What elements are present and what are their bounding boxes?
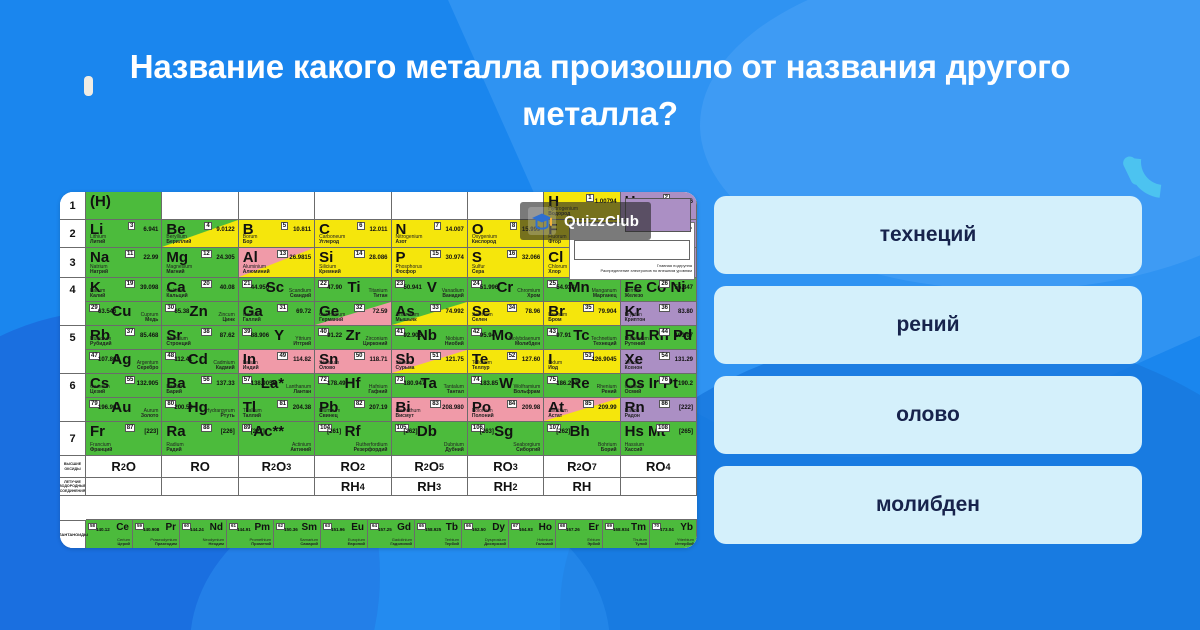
- element-russian-name: Цинк: [218, 318, 234, 324]
- element-names: BismuthumВисмут: [396, 409, 421, 421]
- element-cell-empty: [392, 192, 468, 220]
- element-russian-name: Цирконий: [363, 342, 387, 348]
- period-number-6: 6: [60, 374, 86, 398]
- element-symbol: Y: [274, 328, 284, 343]
- element-names: FranciumФранций: [90, 443, 112, 455]
- element-names: PoloniumПолоний: [472, 409, 494, 421]
- element-cell-Br: Br3579.904BromumБром: [544, 302, 620, 326]
- element-symbol: Ce: [116, 523, 129, 533]
- element-atomic-mass: 24.305: [216, 255, 234, 261]
- element-names: OsmiumОсмий: [625, 385, 644, 397]
- lanthanide-cell-Pr: Pr59140.908PraseodymiumПразеодим: [133, 520, 180, 548]
- element-cell-As: As3374.992ArsenicumМышьяк: [392, 302, 468, 326]
- element-atomic-mass: 132.905: [137, 381, 159, 387]
- element-atomic-mass: 10.811: [293, 227, 311, 233]
- element-cell-Au: Au79196.967AurumЗолото: [86, 398, 162, 422]
- element-atomic-number: 37: [125, 328, 136, 336]
- period-number-: [60, 350, 86, 374]
- element-names: ArgentumСеребро: [137, 361, 159, 373]
- element-names: RheniumРений: [597, 385, 617, 397]
- element-cell-Cd: Cd48112.41CadmiumКадмий: [162, 350, 238, 374]
- element-symbol: Dy: [492, 523, 505, 533]
- element-names: NiobiumНиобий: [445, 337, 464, 349]
- hydride-formula-cell: [162, 478, 238, 496]
- element-atomic-mass: 14.007: [446, 227, 464, 233]
- element-names: ScandiumСкандий: [289, 289, 311, 301]
- element-russian-name: Скандий: [289, 294, 311, 300]
- element-cell-Rf: Rf104[261]RutherfordiumРезерфордий: [315, 422, 391, 456]
- element-atomic-mass: 118.71: [369, 357, 387, 363]
- lanthanide-cell-Eu: Eu63151.96EuropiumЕвропий: [321, 520, 368, 548]
- element-cell-Li: Li36.941LithiumЛитий: [86, 220, 162, 248]
- element-symbol: Pm: [254, 523, 270, 533]
- element-names: GadoliniumГадолиний: [390, 538, 412, 547]
- element-cell-Rb: Rb3785.468RubidiumРубидий: [86, 326, 162, 350]
- element-atomic-mass: 69.72: [296, 309, 311, 315]
- element-symbol: Mg: [166, 250, 188, 265]
- element-cell-Ra: Ra88[226]RadiumРадий: [162, 422, 238, 456]
- element-atomic-mass: [263]: [480, 429, 494, 435]
- element-atomic-number: 19: [125, 280, 136, 288]
- oxide-formula: R2O5: [392, 456, 467, 477]
- element-names: WolframiumВольфрам: [514, 385, 541, 397]
- element-cell-Fr: Fr87[223]FranciumФранций: [86, 422, 162, 456]
- element-cell-Bh: Bh107[262]BohriumБорий: [544, 422, 620, 456]
- element-symbol: Cl: [548, 250, 563, 265]
- element-symbol: Zn: [189, 304, 207, 319]
- element-cell-N: N714.007NitrogeniumАзот: [392, 220, 468, 248]
- lanthanide-cell-Tb: Tb65158.925TerbiumТербий: [415, 520, 462, 548]
- element-cell-Kr: Kr3683.80KryptonКриптон: [621, 302, 697, 326]
- answer-option-label: молибден: [876, 493, 980, 517]
- element-russian-name: Олово: [319, 366, 339, 372]
- element-names: BohriumБорий: [598, 443, 617, 455]
- element-names: CarboneumУглерод: [319, 235, 345, 247]
- element-names: ChromiumХром: [517, 289, 540, 301]
- element-symbol: Gd: [397, 523, 411, 533]
- element-symbol: Zr: [346, 328, 361, 343]
- element-cell-Y: Y3988.906YttriumИттрий: [239, 326, 315, 350]
- element-russian-name: Мышьяк: [396, 318, 420, 324]
- element-atomic-number: 7: [434, 222, 441, 230]
- element-atomic-mass: 180.947: [404, 381, 426, 387]
- hydride-formula: RH3: [392, 478, 467, 495]
- element-atomic-mass: [227]: [251, 429, 265, 435]
- volatile-hydrides-text: ЛЕТУЧИЕ ВОДОРОДНЫЕ СОЕДИНЕНИЯ: [60, 478, 85, 495]
- legend-sample-box: [574, 240, 690, 260]
- element-atomic-number: 26: [659, 280, 670, 288]
- element-names: TelluriumТеллур: [472, 361, 492, 373]
- period-number-4: 4: [60, 278, 86, 302]
- higher-oxides-text: ВЫСШИЕ ОКСИДЫ: [60, 456, 85, 477]
- period-number-7: 7: [60, 422, 86, 456]
- element-names: BerylliumБериллий: [166, 235, 191, 247]
- element-cell-Te: Te52127.60TelluriumТеллур: [468, 350, 544, 374]
- element-russian-name: Актиний: [290, 448, 311, 454]
- element-atomic-number: 88: [201, 424, 212, 432]
- element-russian-name: Германий: [319, 318, 345, 324]
- element-atomic-number: 34: [507, 304, 518, 312]
- element-names: ActiniumАктиний: [290, 443, 311, 455]
- element-atomic-mass: 85.468: [140, 333, 158, 339]
- element-russian-name: Европий: [348, 542, 365, 547]
- element-cell-Ga: Ga3169.72GalliumГаллий: [239, 302, 315, 326]
- cursor-indicator: [84, 76, 93, 96]
- element-atomic-number: 51: [430, 352, 441, 360]
- element-symbol: V: [427, 280, 437, 295]
- answer-option-label: рений: [896, 313, 959, 337]
- hydride-formula: [239, 478, 314, 495]
- element-russian-name: Азот: [396, 240, 423, 246]
- element-symbol: Er: [588, 523, 599, 533]
- hydride-formula-cell: [621, 478, 697, 496]
- element-atomic-number: 4: [204, 222, 211, 230]
- element-russian-name: Хлор: [548, 270, 567, 276]
- oxide-formula: RO3: [468, 456, 543, 477]
- element-symbol: Pr: [165, 523, 176, 533]
- hydride-formula-cell: RH: [544, 478, 620, 496]
- element-names: NitrogeniumАзот: [396, 235, 423, 247]
- hydride-formula: RH2: [468, 478, 543, 495]
- element-atomic-mass: 12.011: [369, 227, 387, 233]
- element-atomic-number: 32: [354, 304, 365, 312]
- answer-option-1[interactable]: технеций: [714, 196, 1142, 274]
- oxide-formula: RO: [162, 456, 237, 477]
- element-names: AurumЗолото: [141, 409, 159, 421]
- element-atomic-mass: 26.9815: [289, 255, 311, 261]
- element-names: ZincumЦинк: [218, 313, 234, 325]
- element-symbol: Fr: [90, 424, 105, 439]
- graduation-cap-icon: [528, 207, 556, 235]
- hydride-formula: [86, 478, 161, 495]
- element-atomic-mass: 65.38: [174, 309, 189, 315]
- element-cell-Zr: Zr4091.22ZirconiumЦирконий: [315, 326, 391, 350]
- element-names: DysprosiumДиспрозий: [484, 538, 506, 547]
- element-cell-Sc: Sc2144.956ScandiumСкандий: [239, 278, 315, 302]
- oxide-formula-cell: R2O7: [544, 456, 620, 478]
- element-russian-name: Осмий: [625, 390, 644, 396]
- element-atomic-mass: 137.33: [216, 381, 234, 387]
- oxide-formula: RO4: [621, 456, 696, 477]
- answer-option-2[interactable]: рений: [714, 286, 1142, 364]
- element-russian-name: Селен: [472, 318, 493, 324]
- oxide-formula: R2O7: [544, 456, 619, 477]
- element-atomic-mass: 126.9045: [592, 357, 617, 363]
- element-russian-name: Бериллий: [166, 240, 191, 246]
- element-atomic-mass: 97.91: [556, 333, 571, 339]
- element-atomic-mass: 101.07: [675, 333, 693, 339]
- element-atomic-mass: 107.868: [98, 357, 120, 363]
- oxide-formula: R2O3: [239, 456, 314, 477]
- element-names: NatriumНатрий: [90, 265, 108, 277]
- element-atomic-number: 20: [201, 280, 212, 288]
- element-names: KaliumКалий: [90, 289, 105, 301]
- element-atomic-number: 52: [507, 352, 518, 360]
- volatile-hydrides-label: ЛЕТУЧИЕ ВОДОРОДНЫЕ СОЕДИНЕНИЯ: [60, 478, 86, 496]
- element-names: NeodymiumНеодим: [203, 538, 224, 547]
- element-names: CuprumМедь: [141, 313, 159, 325]
- element-russian-name: Бор: [243, 240, 258, 246]
- element-cell-Ag: Ag47107.868ArgentumСеребро: [86, 350, 162, 374]
- element-symbol: Rf: [345, 424, 361, 439]
- element-symbol: Na: [90, 250, 109, 265]
- period-number-3: 3: [60, 248, 86, 278]
- element-atomic-number: 31: [277, 304, 288, 312]
- element-names: StrontiumСтронций: [166, 337, 190, 349]
- element-names: RubidiumРубидий: [90, 337, 112, 349]
- element-atomic-mass: 140.908: [143, 527, 159, 532]
- element-names: GalliumГаллий: [243, 313, 261, 325]
- element-atomic-mass: 157.25: [378, 527, 392, 532]
- element-names: ChlorumХлор: [548, 265, 567, 277]
- element-names: PlumbumСвинец: [319, 409, 340, 421]
- element-russian-name: Эрбий: [587, 542, 600, 547]
- element-cell-Se: Se3478.96SeleniumСелен: [468, 302, 544, 326]
- lanthanide-cell-Ce: Ce58140.12CeriumЦерий: [86, 520, 133, 548]
- element-cell-Zn: Zn3065.38ZincumЦинк: [162, 302, 238, 326]
- element-russian-name: Таллий: [243, 414, 262, 420]
- element-atomic-mass: 54.938: [556, 285, 574, 291]
- element-russian-name: Сера: [472, 270, 485, 276]
- element-cell-Ca: Ca2040.08CalciumКальций: [162, 278, 238, 302]
- element-russian-name: Литий: [90, 240, 106, 246]
- element-names: ErbiumЭрбий: [587, 538, 600, 547]
- element-names: CadmiumКадмий: [213, 361, 234, 373]
- element-atomic-mass: 178.49: [327, 381, 345, 387]
- element-cell-Mn: Mn2554.938ManganumМарганец: [544, 278, 620, 302]
- element-russian-name: Фтор: [548, 240, 566, 246]
- element-russian-name: Фосфор: [396, 270, 423, 276]
- element-atomic-number: 38: [201, 328, 212, 336]
- element-russian-name: Рений: [597, 390, 617, 396]
- higher-oxides-label: ВЫСШИЕ ОКСИДЫ: [60, 456, 86, 478]
- element-atomic-number: 84: [507, 400, 518, 408]
- element-atomic-mass: 144.91: [237, 527, 251, 532]
- hydride-formula-cell: [86, 478, 162, 496]
- element-cell-Ge: Ge3272.59GermaniumГерманий: [315, 302, 391, 326]
- element-cell-Sg: Sg106[263]SeaborgiumСиборгий: [468, 422, 544, 456]
- element-cell-Cr: Cr2451.996ChromiumХром: [468, 278, 544, 302]
- hydride-formula: RH4: [315, 478, 390, 495]
- period-number-: [60, 398, 86, 422]
- oxide-formula-cell: R2O5: [392, 456, 468, 478]
- answer-option-4[interactable]: молибден: [714, 466, 1142, 544]
- element-russian-name: Рубидий: [90, 342, 112, 348]
- element-atomic-mass: 150.36: [284, 527, 298, 532]
- element-cell-Ru: Ru Rh Pd44101.07RutheniumРутений: [621, 326, 697, 350]
- element-russian-name: Углерод: [319, 240, 345, 246]
- element-russian-name: Тантал: [444, 390, 464, 396]
- element-russian-name: Ртуть: [206, 414, 235, 420]
- element-atomic-mass: 144.24: [190, 527, 204, 532]
- element-russian-name: Празеодим: [150, 542, 177, 547]
- element-cell-Mo: Mo4295.94MolybdaenumМолибден: [468, 326, 544, 350]
- element-russian-name: Неодим: [203, 542, 224, 547]
- element-atomic-number: 36: [659, 304, 670, 312]
- element-atomic-mass: 40.08: [220, 285, 235, 291]
- element-names: TantalumТантал: [444, 385, 464, 397]
- element-cell-Ba: Ba56137.33BariumБарий: [162, 374, 238, 398]
- element-cell-Bi: Bi83208.980BismuthumВисмут: [392, 398, 468, 422]
- element-russian-name: Иод: [548, 366, 562, 372]
- element-russian-name: Полоний: [472, 414, 494, 420]
- element-names: StibiumСурьма: [396, 361, 415, 373]
- element-cell-At: At85209.99AstatiumАстат: [544, 398, 620, 422]
- element-cell-Be: Be49.0122BerylliumБериллий: [162, 220, 238, 248]
- element-cell-S: S1632.066SulfurСера: [468, 248, 544, 278]
- element-cell-In: In49114.82IndiumИндий: [239, 350, 315, 374]
- element-russian-name: Бром: [548, 318, 567, 324]
- element-russian-name: Железо: [625, 294, 644, 300]
- legend-line-4: Распределение электронов по внешним уров…: [572, 268, 692, 273]
- element-atomic-mass: 22.99: [143, 255, 158, 261]
- element-symbol: Bh: [570, 424, 590, 439]
- element-russian-name: Цезий: [90, 390, 110, 396]
- element-atomic-mass: 158.925: [425, 527, 441, 532]
- hydride-formula: [621, 478, 696, 495]
- element-names: HydrargyrumРтуть: [206, 409, 235, 421]
- element-russian-name: Кислород: [472, 240, 497, 246]
- element-names: YttriumИттрий: [293, 337, 311, 349]
- element-atomic-mass: 121.75: [446, 357, 464, 363]
- element-atomic-mass: 74.992: [446, 309, 464, 315]
- element-names: MolybdaenumМолибден: [509, 337, 540, 349]
- hydride-formula-cell: RH2: [468, 478, 544, 496]
- element-cell-Os: Os Ir Pt76190.2OsmiumОсмий: [621, 374, 697, 398]
- element-symbol: (H): [90, 194, 111, 209]
- element-atomic-mass: 127.60: [522, 357, 540, 363]
- element-atomic-mass: 140.12: [96, 527, 110, 532]
- element-atomic-mass: 83.80: [678, 309, 693, 315]
- answer-options-list: технецийренийоловомолибден: [714, 196, 1142, 544]
- element-names: TitaniumТитан: [369, 289, 388, 301]
- element-russian-name: Ниобий: [445, 342, 464, 348]
- element-russian-name: Магний: [166, 270, 192, 276]
- element-russian-name: Диспрозий: [484, 542, 506, 547]
- element-atomic-number: 49: [277, 352, 288, 360]
- element-names: YtterbiumИттербий: [675, 538, 694, 547]
- oxide-formula-cell: RO: [162, 456, 238, 478]
- element-russian-name: Прометий: [249, 542, 271, 547]
- hydride-formula: [162, 478, 237, 495]
- element-names: XenonКсенон: [625, 361, 643, 373]
- quiz-card: Название какого металла произошло от наз…: [0, 0, 1200, 630]
- element-atomic-mass: 72.59: [372, 309, 387, 315]
- element-russian-name: Лантан: [286, 390, 311, 396]
- oxide-formula: RO2: [315, 456, 390, 477]
- element-cell-Hg: Hg80200.59HydrargyrumРтуть: [162, 398, 238, 422]
- element-atomic-mass: 138.9055: [251, 381, 276, 387]
- element-atomic-mass: 209.98: [522, 405, 540, 411]
- element-russian-name: Хром: [517, 294, 540, 300]
- element-symbol: Db: [417, 424, 437, 439]
- element-atomic-mass: 168.934: [613, 527, 629, 532]
- answer-option-label: технеций: [880, 223, 976, 247]
- element-russian-name: Гадолиний: [390, 542, 412, 547]
- element-names: EuropiumЕвропий: [348, 538, 365, 547]
- element-symbol: Eu: [351, 523, 364, 533]
- element-names: SulfurСера: [472, 265, 485, 277]
- answer-option-3[interactable]: олово: [714, 376, 1142, 454]
- element-atomic-mass: 196.967: [98, 405, 120, 411]
- element-names: RadiumРадий: [166, 443, 183, 455]
- element-symbol: Ti: [347, 280, 360, 295]
- element-russian-name: Теллур: [472, 366, 492, 372]
- element-atomic-mass: 164.93: [519, 527, 533, 532]
- lanthanide-cell-Gd: Gd64157.25GadoliniumГадолиний: [368, 520, 415, 548]
- element-names: OxygeniumКислород: [472, 235, 497, 247]
- element-atomic-number: 82: [354, 400, 365, 408]
- element-cell-Pb: Pb82207.19PlumbumСвинец: [315, 398, 391, 422]
- element-atomic-number: 76: [659, 376, 670, 384]
- element-atomic-number: 11: [125, 250, 135, 258]
- element-russian-name: Хассий: [625, 448, 644, 454]
- lanthanide-cell-Pm: Pm61144.91PromethiumПрометий: [227, 520, 274, 548]
- element-symbol: Sg: [494, 424, 513, 439]
- element-names: LithiumЛитий: [90, 235, 106, 247]
- element-atomic-number: 50: [354, 352, 365, 360]
- element-atomic-mass: 9.0122: [216, 227, 234, 233]
- element-symbol: Al: [243, 250, 258, 265]
- element-atomic-mass: [265]: [679, 429, 693, 435]
- element-cell-empty: [239, 192, 315, 220]
- element-names: KryptonКриптон: [625, 313, 646, 325]
- element-atomic-mass: 88.906: [251, 333, 269, 339]
- element-atomic-mass: [261]: [327, 429, 341, 435]
- element-atomic-number: 33: [430, 304, 441, 312]
- element-names: TechnetiumТехнеций: [591, 337, 617, 349]
- element-atomic-mass: 95.94: [480, 333, 495, 339]
- element-atomic-number: 8: [510, 222, 517, 230]
- element-russian-name: Барий: [166, 390, 182, 396]
- element-cell-Si: Si1428.086SiliciumКремний: [315, 248, 391, 278]
- element-russian-name: Дубний: [444, 448, 464, 454]
- element-cell-empty: [162, 192, 238, 220]
- element-symbol: S: [472, 250, 482, 265]
- element-atomic-mass: 92.906: [404, 333, 422, 339]
- element-cell-Nb: Nb4192.906NiobiumНиобий: [392, 326, 468, 350]
- element-cell-Po: Po84209.98PoloniumПолоний: [468, 398, 544, 422]
- element-symbol: Tm: [631, 523, 646, 533]
- element-cell-B: B510.811BorumБор: [239, 220, 315, 248]
- element-cell-Sr: Sr3887.62StrontiumСтронций: [162, 326, 238, 350]
- element-cell-P: P1530.974PhosphorusФосфор: [392, 248, 468, 278]
- element-russian-name: Сиборгий: [513, 448, 540, 454]
- element-cell-Ac**: Ac**89[227]ActiniumАктиний: [239, 422, 315, 456]
- element-names: ThalliumТаллий: [243, 409, 262, 421]
- element-atomic-mass: 173.04: [660, 527, 674, 532]
- question-title: Название какого металла произошло от наз…: [0, 44, 1200, 138]
- element-atomic-mass: 208.980: [442, 405, 464, 411]
- element-names: RutheniumРутений: [625, 337, 649, 349]
- element-atomic-number: 83: [430, 400, 441, 408]
- element-atomic-mass: 114.82: [293, 357, 311, 363]
- element-atomic-number: 85: [583, 400, 594, 408]
- element-names: CeriumЦерий: [117, 538, 130, 547]
- element-atomic-mass: 200.59: [174, 405, 192, 411]
- element-atomic-number: 16: [507, 250, 518, 258]
- element-atomic-mass: 28.086: [369, 255, 387, 261]
- element-names: TerbiumТербий: [445, 538, 459, 547]
- lanthanide-cell-Tm: Tm69168.934ThuliumТулий: [603, 520, 650, 548]
- element-atomic-mass: 186.207: [556, 381, 578, 387]
- element-atomic-number: 108: [656, 424, 670, 432]
- element-cell-Na: Na1122.99NatriumНатрий: [86, 248, 162, 278]
- element-cell-Sb: Sb51121.75StibiumСурьма: [392, 350, 468, 374]
- watermark-brand: QuizzClub: [564, 213, 639, 230]
- answer-option-label: олово: [896, 403, 960, 427]
- element-atomic-mass: 39.098: [140, 285, 158, 291]
